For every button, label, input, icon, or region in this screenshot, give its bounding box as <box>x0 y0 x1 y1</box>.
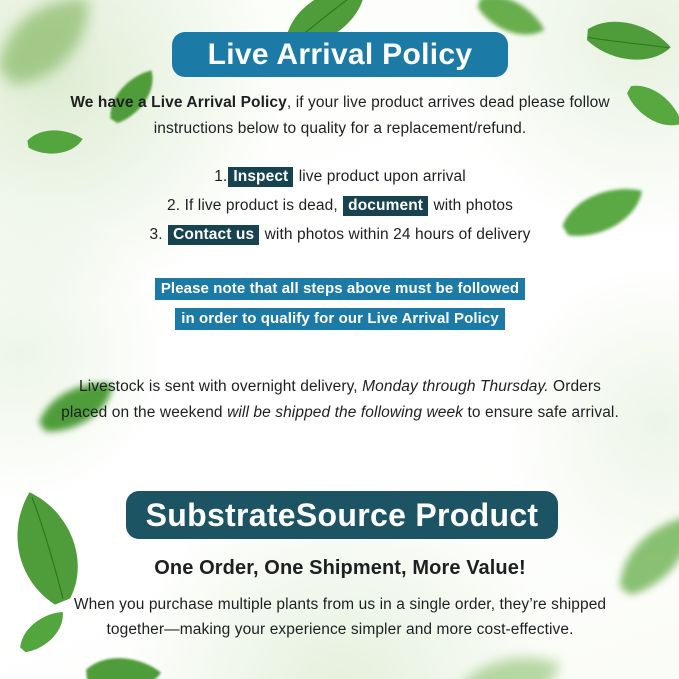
step-number: 2. <box>167 197 180 214</box>
step-before: If live product is dead, <box>180 197 342 214</box>
step-number: 3. <box>150 226 163 243</box>
step-number: 1. <box>214 168 227 185</box>
live-arrival-policy-infographic: Live Arrival Policy We have a Live Arriv… <box>0 0 679 679</box>
closing-paragraph: When you purchase multiple plants from u… <box>60 592 620 642</box>
leaf-icon <box>575 0 678 87</box>
step-highlight-inspect: Inspect <box>228 167 293 187</box>
step-before <box>163 226 167 243</box>
list-item: 3. Contact us with photos within 24 hour… <box>60 220 620 249</box>
note-line-1-wrap: Please note that all steps above must be… <box>60 274 620 304</box>
list-item: 1.Inspect live product upon arrival <box>60 162 620 191</box>
shipping-part-1: Livestock is sent with overnight deliver… <box>79 378 362 395</box>
step-highlight-document: document <box>343 196 428 216</box>
intro-bold-lead: We have a Live Arrival Policy <box>70 94 287 111</box>
step-after: with photos within 24 hours of delivery <box>260 226 530 243</box>
tagline: One Order, One Shipment, More Value! <box>60 554 620 582</box>
shipping-italic-1: Monday through Thursday. <box>362 378 549 395</box>
step-highlight-contact-us: Contact us <box>168 225 259 245</box>
step-after: live product upon arrival <box>294 168 465 185</box>
policy-note: Please note that all steps above must be… <box>60 274 620 334</box>
list-item: 2. If live product is dead, document wit… <box>60 191 620 220</box>
leaf-icon <box>78 638 166 679</box>
shipping-paragraph: Livestock is sent with overnight deliver… <box>60 374 620 426</box>
live-arrival-policy-banner: Live Arrival Policy <box>172 32 508 77</box>
leaf-icon <box>0 0 102 98</box>
shipping-italic-2: will be shipped the following week <box>227 404 463 421</box>
shipping-part-3: to ensure safe arrival. <box>463 404 619 421</box>
substratesource-product-banner: SubstrateSource Product <box>126 491 558 539</box>
leaf-icon <box>617 67 679 145</box>
steps-list: 1.Inspect live product upon arrival 2. I… <box>60 162 620 249</box>
note-line-1: Please note that all steps above must be… <box>155 278 525 300</box>
step-after: with photos <box>429 197 513 214</box>
intro-paragraph: We have a Live Arrival Policy, if your l… <box>60 90 620 142</box>
note-line-2-wrap: in order to qualify for our Live Arrival… <box>60 304 620 334</box>
leaf-icon <box>452 648 562 679</box>
note-line-2: in order to qualify for our Live Arrival… <box>175 308 505 330</box>
